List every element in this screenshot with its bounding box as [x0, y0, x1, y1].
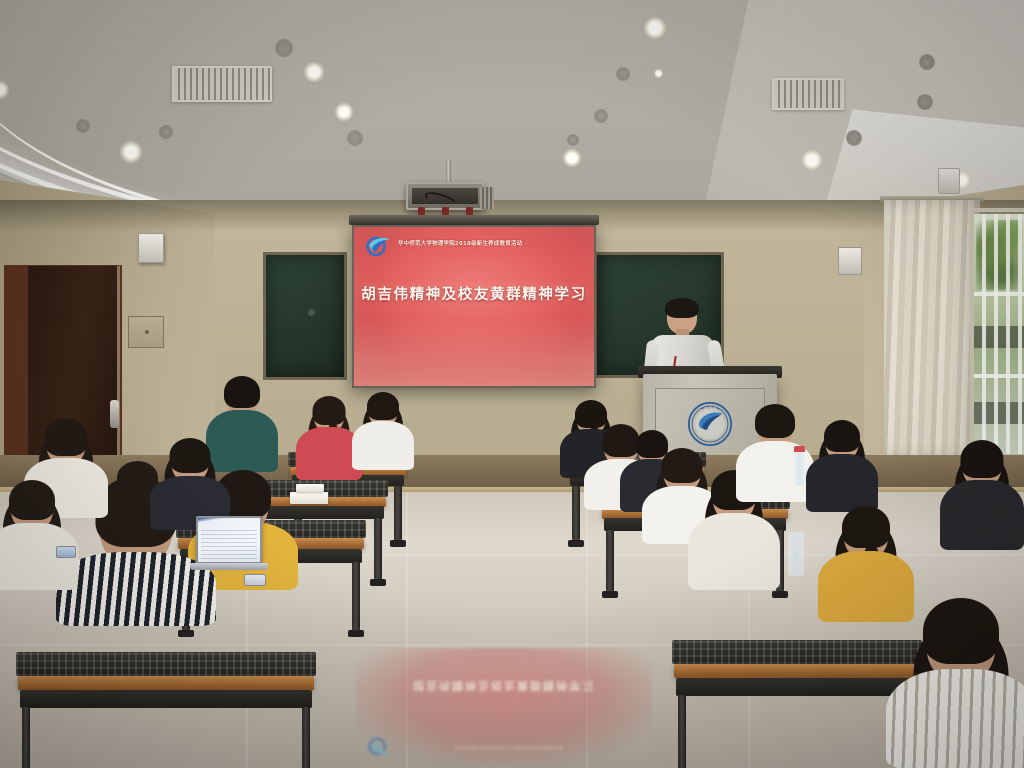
student-torso [688, 513, 780, 590]
desk-foot-2 [390, 540, 406, 547]
slide-header-text: 华中师范大学物理学院2018级新生养成教育活动 [398, 239, 584, 247]
desk-leg-1 [22, 707, 30, 768]
student-hair [313, 396, 346, 425]
ceiling-downlight-3 [654, 69, 663, 78]
laptop-spreadsheet-content [201, 527, 257, 559]
ceiling-downlight-10 [76, 119, 90, 133]
reflection-logo-icon [368, 736, 390, 757]
ceiling-downlight-11 [594, 109, 608, 123]
student-hair [842, 506, 890, 548]
desk-apron [20, 690, 312, 708]
university-seal-emblem [687, 401, 733, 447]
projector-cage-foot-3 [466, 207, 473, 215]
projector-vent-fins [480, 187, 494, 209]
smartphone-in-hand[interactable] [56, 546, 76, 558]
student-hair [824, 420, 860, 452]
student-hair [9, 480, 55, 520]
ceiling-downlight-13 [120, 141, 142, 163]
ceiling-downlight-15 [347, 130, 363, 146]
desk-leg-1 [678, 695, 686, 768]
window-frame [970, 208, 1024, 458]
open-notebook [290, 492, 328, 504]
ceiling-downlight-18 [802, 150, 822, 170]
reflection-title-text: 胡吉伟精神及校友黄群精神学习 [356, 678, 652, 694]
student-dark-right-b [806, 420, 878, 512]
light-switch-icon [145, 330, 149, 334]
student-far-left-edge [0, 480, 78, 590]
projection-screen-housing [349, 215, 599, 225]
laptop-keyboard-base[interactable] [190, 563, 268, 570]
ceiling-downlight-2 [644, 17, 666, 39]
desk-foot-1 [568, 540, 584, 547]
student-hair [367, 392, 399, 420]
desk-row-bottom-right [672, 640, 922, 736]
desk-back-panel [672, 640, 922, 664]
ceiling-downlight-12 [846, 130, 862, 146]
ceiling-speaker-icon [938, 168, 960, 194]
desk-foot-1 [602, 591, 618, 598]
student-hair [224, 376, 260, 408]
student-hair [923, 598, 999, 664]
desk-foot-2 [348, 630, 364, 637]
blackboard-left [263, 252, 347, 380]
desk-back-panel [16, 652, 316, 676]
wall-speaker-icon [138, 233, 164, 263]
university-swoosh-logo [366, 235, 390, 258]
floor-screen-reflection: 胡吉伟精神及校友黄群精神学习 华中师范大学物理学院2018级新生养成教育活动 [356, 648, 652, 766]
ceiling-downlight-9 [335, 103, 353, 121]
desk-foot-1 [178, 630, 194, 637]
ceiling-downlight-4 [304, 62, 324, 82]
water-bottle [793, 450, 806, 486]
desk-foot-2 [370, 579, 386, 586]
desk-leg-2 [394, 486, 402, 540]
desk-leg-1 [572, 486, 580, 540]
wall-speaker-right-icon [838, 247, 862, 275]
laptop-open[interactable] [196, 516, 262, 564]
desk-apron [676, 678, 918, 696]
student-stripe-right [886, 598, 1024, 768]
smartphone-on-desk[interactable] [244, 574, 266, 586]
student-torso [806, 454, 878, 512]
ceiling-downlight-7 [919, 54, 935, 70]
projection-screen: 华中师范大学物理学院2018级新生养成教育活动 胡吉伟精神及校友黄群精神学习 [352, 225, 596, 388]
desk-worktop [674, 664, 920, 678]
door-handle-icon[interactable] [110, 400, 119, 428]
desk-foot-2 [772, 591, 788, 598]
ceiling-air-vent-2 [772, 78, 844, 110]
projector-cable [423, 189, 459, 211]
presenter-hair [665, 298, 699, 318]
water-bottle-2 [788, 532, 804, 576]
reflection-header-text: 华中师范大学物理学院2018级新生养成教育活动 [392, 744, 626, 750]
ceiling-air-vent-1 [172, 66, 272, 102]
ceiling-downlight-17 [567, 134, 579, 146]
projector-cage-foot-1 [418, 207, 425, 215]
blackboard-gleam [308, 309, 315, 316]
ceiling-downlight-8 [917, 94, 933, 110]
lecture-hall-photo: 华中师范大学物理学院2018级新生养成教育活动 胡吉伟精神及校友黄群精神学习 [0, 0, 1024, 768]
desk-leg-2 [374, 518, 382, 579]
desk-leg-2 [302, 707, 310, 768]
ceiling [0, 0, 1024, 232]
student-hair [170, 438, 211, 473]
student-hair [45, 418, 88, 456]
desk-leg-2 [352, 562, 360, 630]
student-dark-far-right [940, 440, 1024, 550]
projector-body [412, 188, 478, 204]
student-torso [940, 480, 1024, 550]
ceiling-downlight-16 [563, 149, 581, 167]
ceiling-projector [406, 182, 484, 210]
student-white-back-left [352, 392, 414, 470]
notebook-page [296, 484, 324, 492]
slide-title-text: 胡吉伟精神及校友黄群精神学习 [354, 283, 594, 304]
desk-row-bottom [16, 652, 316, 748]
student-torso [352, 421, 414, 470]
student-torso [886, 669, 1024, 768]
student-hair [961, 440, 1004, 478]
window-curtain[interactable] [884, 200, 980, 460]
projector-cage-foot-2 [442, 207, 449, 215]
desk-leg-1 [606, 530, 614, 591]
student-hair [755, 404, 795, 438]
ceiling-downlight-1 [275, 39, 293, 57]
ceiling-downlight-6 [616, 67, 630, 81]
desk-worktop [18, 676, 314, 690]
ceiling-downlight-14 [159, 125, 173, 139]
bottle-cap-icon [794, 446, 805, 452]
